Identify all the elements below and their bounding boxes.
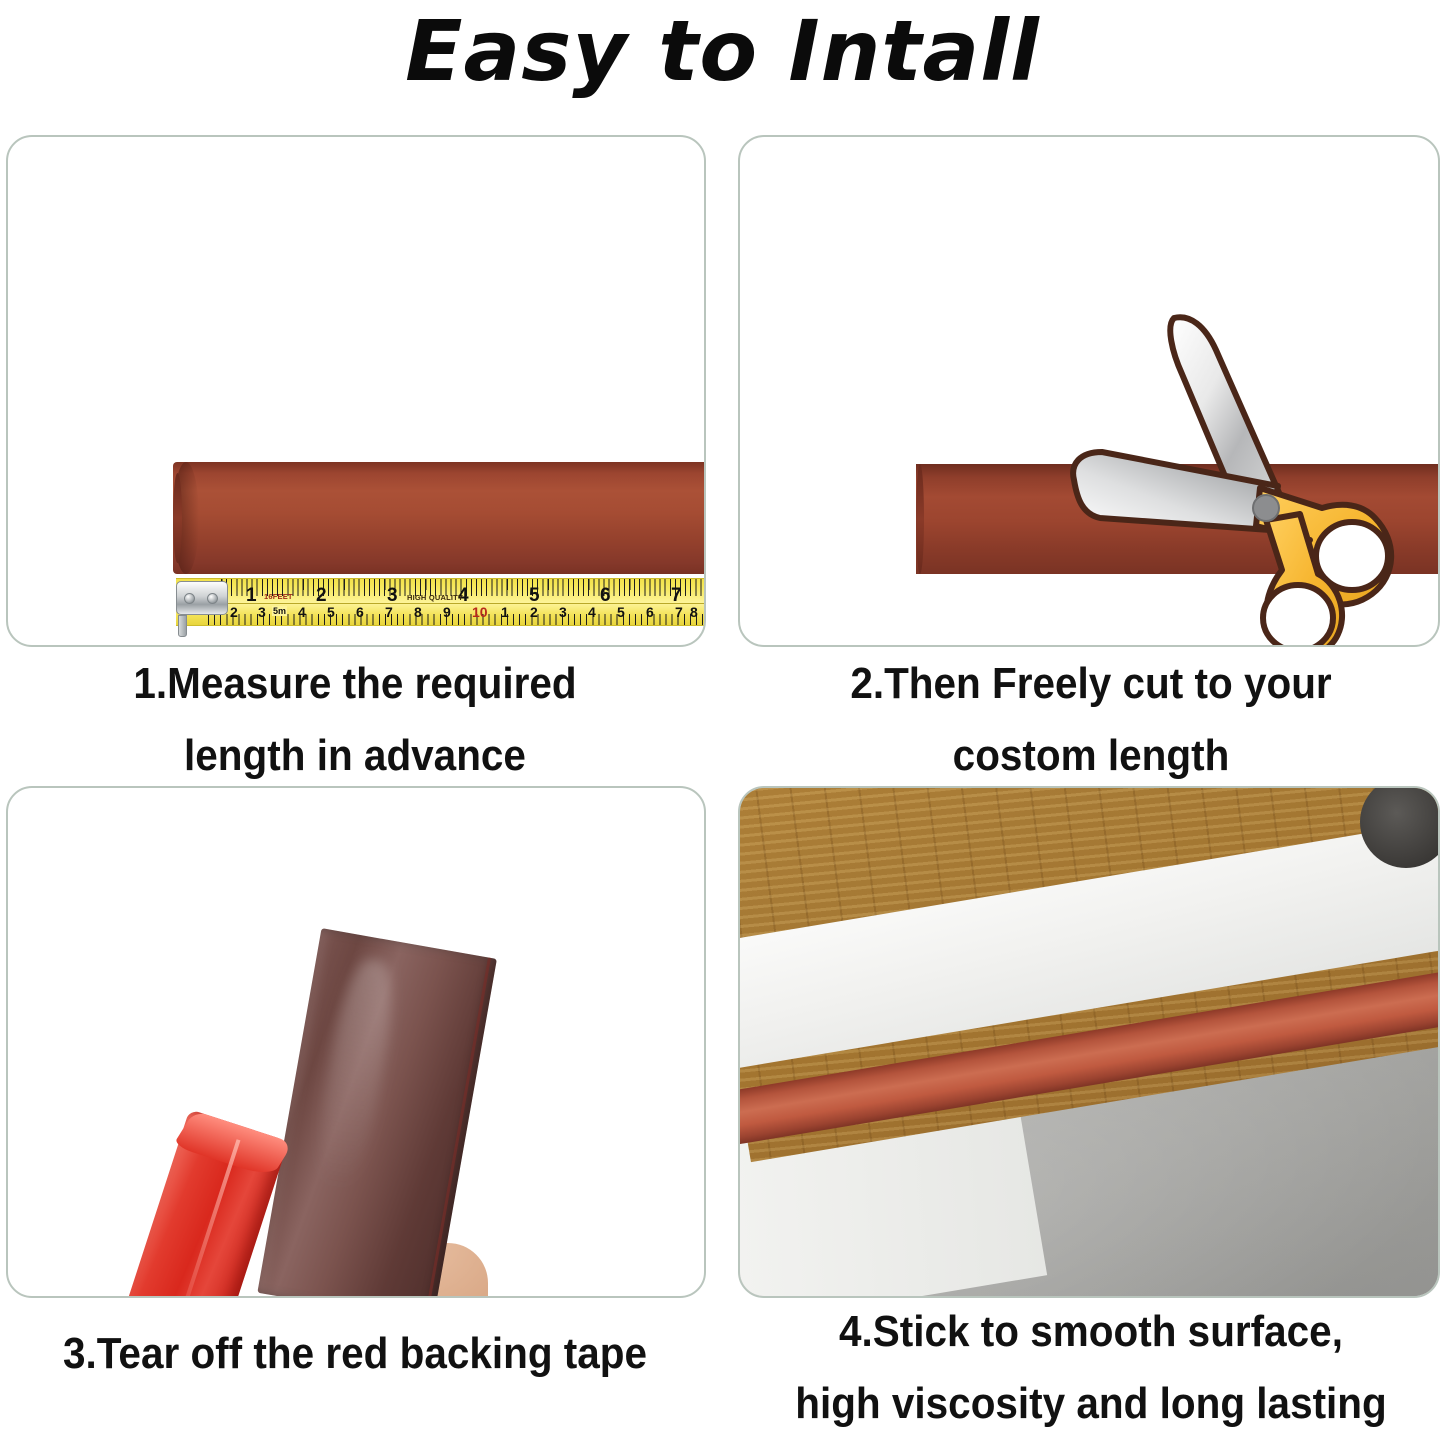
hook-rivet-right — [207, 593, 218, 604]
step-3-panel — [6, 786, 706, 1298]
step-2-caption-line-1: 2.Then Freely cut to your — [770, 648, 1412, 720]
tape-cm-2: 2 — [230, 605, 238, 619]
scissors-icon — [1070, 312, 1440, 647]
tape-inch-2: 2 — [316, 586, 327, 605]
tape-metric-numbers: 2 3 5m 4 5 6 7 8 9 10 1 2 3 4 5 6 7 8 — [176, 605, 706, 623]
hook-rivet-left — [184, 593, 195, 604]
tape-cm-17: 7 — [675, 605, 683, 619]
tape-cm-16: 6 — [646, 605, 654, 619]
tape-crease — [177, 1139, 241, 1298]
tape-cm-14: 4 — [588, 605, 596, 619]
tape-measure-end-tab — [178, 615, 187, 637]
peel-backing-illustration — [8, 788, 704, 1296]
tape-fold — [173, 1111, 294, 1178]
tape-cm-4: 4 — [298, 605, 306, 619]
trim-strip-photo — [257, 928, 497, 1298]
step-3-caption-line-1: 3.Tear off the red backing tape — [38, 1318, 673, 1390]
tape-cm-6: 6 — [356, 605, 364, 619]
tape-cm-15: 5 — [617, 605, 625, 619]
step-2-caption-line-2: costom length — [770, 720, 1412, 792]
tape-quality-label: HIGH QUALITY — [407, 593, 463, 602]
tape-cm-18: 8 — [690, 605, 698, 619]
step-4-caption-line-1: 4.Stick to smooth surface, — [770, 1296, 1412, 1368]
tape-inch-numbers: 1 2 3 4 5 6 7 16FEET HIGH QUALITY — [176, 586, 706, 606]
tape-cm-3: 3 — [258, 605, 266, 619]
tape-inch-1: 1 — [246, 586, 257, 605]
step-1-caption-line-2: length in advance — [38, 720, 673, 792]
scissors-pivot — [1253, 495, 1279, 521]
tape-metric-total: 5m — [272, 606, 287, 616]
tape-cm-12: 2 — [530, 605, 538, 619]
step-4-panel — [738, 786, 1440, 1298]
step-1-caption: 1.Measure the required length in advance — [38, 648, 673, 792]
tape-cm-10: 10 — [472, 605, 488, 619]
step-3-caption: 3.Tear off the red backing tape — [38, 1318, 673, 1390]
page-title: Easy to Intall — [0, 2, 1445, 100]
trim-strip-illustration — [173, 462, 706, 574]
tape-measure-hook — [176, 581, 228, 615]
tape-inch-7: 7 — [671, 586, 682, 605]
tape-inch-5: 5 — [529, 586, 540, 605]
step-1-panel: 1 2 3 4 5 6 7 16FEET HIGH QUALITY 2 3 5m… — [6, 135, 706, 647]
tape-inch-3: 3 — [387, 586, 398, 605]
step-4-caption: 4.Stick to smooth surface, high viscosit… — [770, 1296, 1412, 1431]
tape-cm-5: 5 — [327, 605, 335, 619]
trim-highlight — [309, 956, 401, 1191]
step-1-caption-line-1: 1.Measure the required — [38, 648, 673, 720]
tape-cm-8: 8 — [414, 605, 422, 619]
tape-brand-label: 16FEET — [264, 592, 293, 601]
infographic-page: Easy to Intall 1 2 3 4 5 6 7 16FEET HIGH… — [0, 0, 1445, 1431]
tape-cm-13: 3 — [559, 605, 567, 619]
installed-trim-photo — [740, 788, 1438, 1296]
tape-cm-11: 1 — [501, 605, 509, 619]
step-2-caption: 2.Then Freely cut to your costom length — [770, 648, 1412, 792]
tape-cm-9: 9 — [443, 605, 451, 619]
tape-cm-7: 7 — [385, 605, 393, 619]
step-2-panel — [738, 135, 1440, 647]
tape-inch-6: 6 — [600, 586, 611, 605]
step-4-caption-line-2: high viscosity and long lasting — [770, 1368, 1412, 1431]
tape-measure: 1 2 3 4 5 6 7 16FEET HIGH QUALITY 2 3 5m… — [176, 578, 706, 626]
